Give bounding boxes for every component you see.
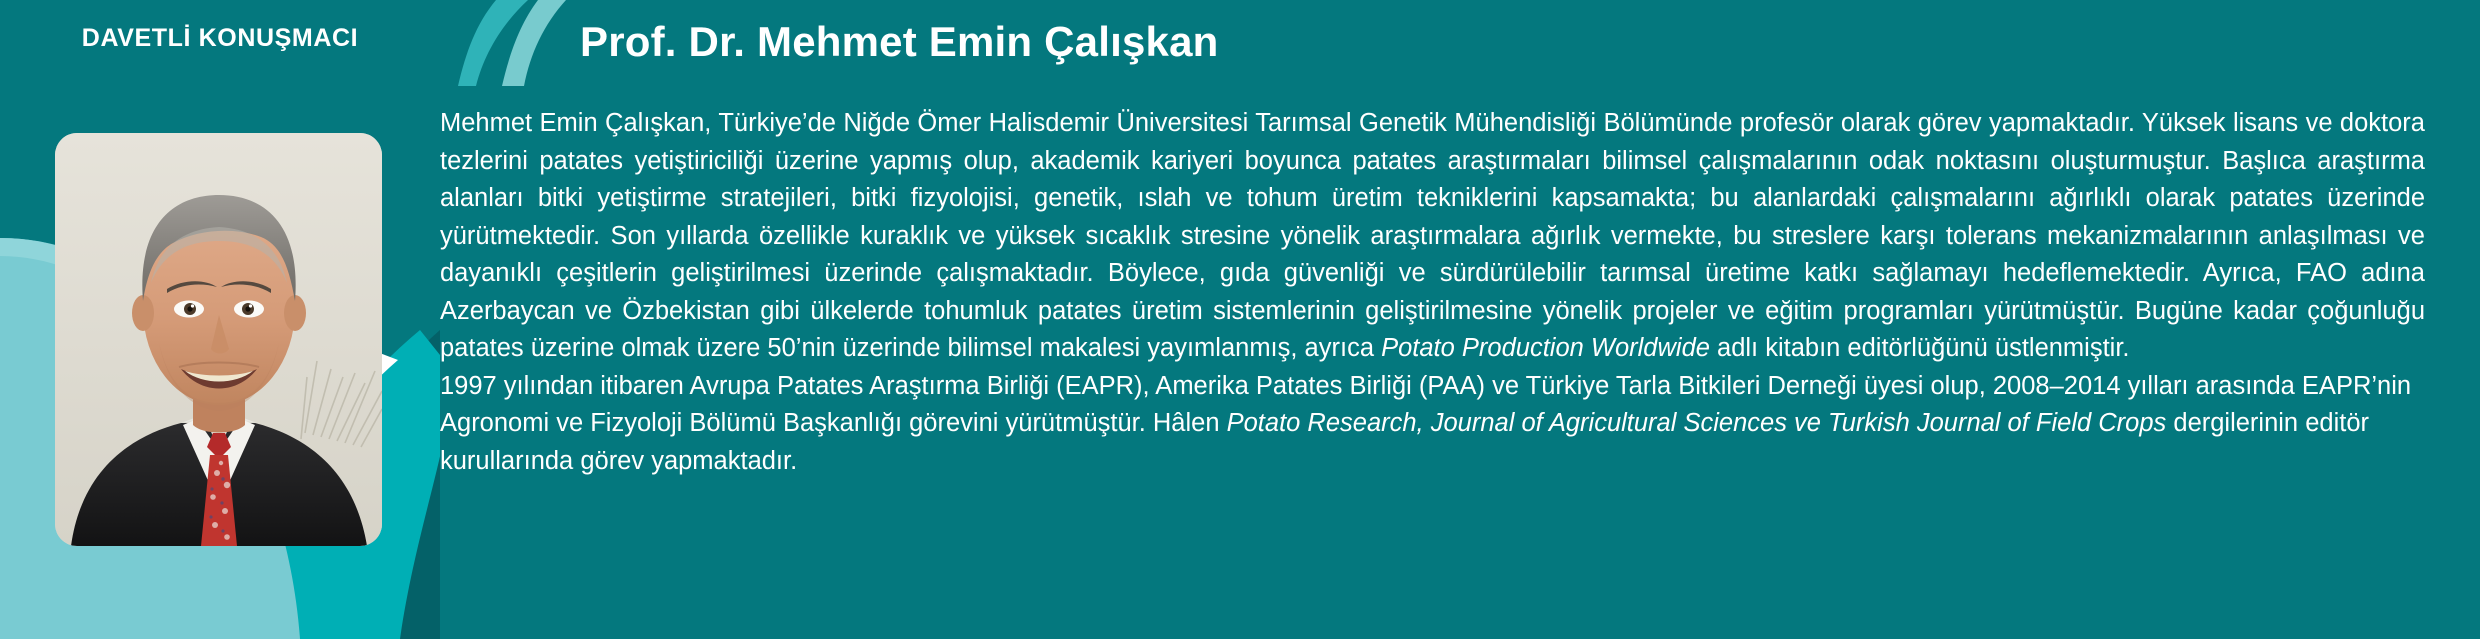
bio-italic-run: Potato Production Worldwide (1381, 334, 1710, 362)
speaker-bio: Mehmet Emin Çalışkan, Türkiye’de Niğde Ö… (440, 105, 2425, 480)
page-title: Prof. Dr. Mehmet Emin Çalışkan (580, 18, 1219, 66)
speaker-portrait (55, 133, 382, 546)
bio-paragraph-2: 1997 yılından itibaren Avrupa Patates Ar… (440, 368, 2425, 481)
bio-text-run: Mehmet Emin Çalışkan, Türkiye’de Niğde Ö… (440, 109, 2425, 362)
speaker-slide: DAVETLİ KONUŞMACI (0, 0, 2480, 639)
left-column: DAVETLİ KONUŞMACI (0, 0, 440, 639)
bio-paragraph-1: Mehmet Emin Çalışkan, Türkiye’de Niğde Ö… (440, 105, 2425, 368)
right-column: Prof. Dr. Mehmet Emin Çalışkan Mehmet Em… (440, 0, 2480, 639)
title-row: Prof. Dr. Mehmet Emin Çalışkan (440, 0, 2480, 96)
double-slash-icon (458, 0, 566, 86)
portrait-illustration (55, 133, 382, 546)
kicker-label: DAVETLİ KONUŞMACI (0, 24, 440, 53)
bio-italic-run: Potato Research, Journal of Agricultural… (1227, 409, 2167, 437)
bio-text-run: adlı kitabın editörlüğünü üstlenmiştir. (1710, 334, 2130, 362)
